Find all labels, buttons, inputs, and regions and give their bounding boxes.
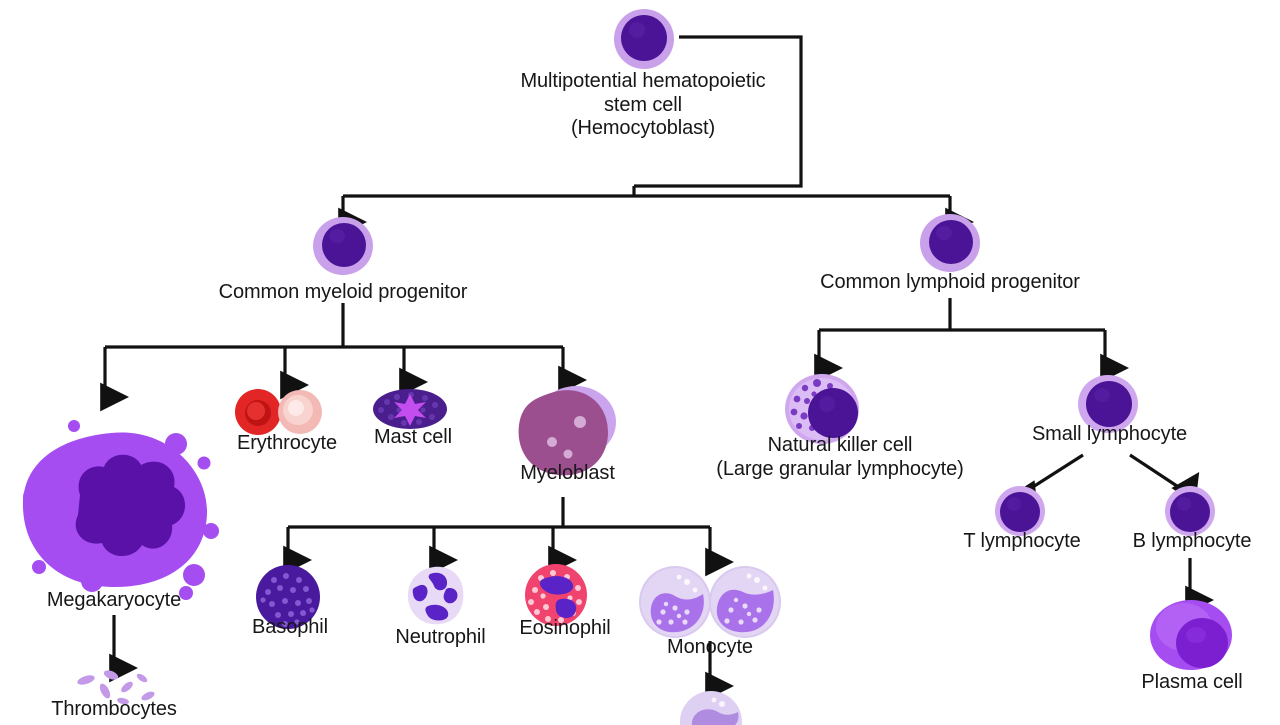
monocyte-icon (635, 564, 785, 640)
neutrophil-icon (404, 564, 468, 628)
progenitor-cell-icon (918, 212, 984, 274)
label-plasma-cell: Plasma cell (1112, 671, 1272, 695)
erythrocyte-icon (234, 388, 326, 436)
label-myeloblast: Myeloblast (495, 462, 640, 486)
label-neutrophil: Neutrophil (378, 626, 503, 650)
stem-cell-icon (611, 8, 677, 70)
label-b-lymphocyte: B lymphocyte (1122, 530, 1262, 554)
plasma-cell-icon (1148, 597, 1234, 673)
node-monocyte (635, 564, 785, 645)
node-macrophage (678, 688, 744, 725)
label-megakaryocyte: Megakaryocyte (14, 589, 214, 613)
label-small-lymphocyte: Small lymphocyte (1022, 423, 1197, 447)
hematopoiesis-diagram: Multipotential hematopoietic stem cell (… (0, 0, 1280, 725)
label-mast-cell: Mast cell (343, 426, 483, 450)
label-t-lymphocyte: T lymphocyte (952, 530, 1092, 554)
label-natural-killer-cell: Natural killer cell (Large granular lymp… (665, 434, 1015, 481)
progenitor-cell-icon (311, 215, 377, 277)
label-common-lymphoid-progenitor: Common lymphoid progenitor (800, 271, 1100, 295)
label-common-myeloid-progenitor: Common myeloid progenitor (193, 281, 493, 305)
label-hematopoietic-stem-cell: Multipotential hematopoietic stem cell (… (458, 70, 828, 141)
node-hematopoietic-stem-cell (611, 8, 677, 75)
macrophage-icon (678, 688, 744, 725)
node-common-lymphoid-progenitor (918, 212, 984, 279)
node-megakaryocyte (8, 385, 228, 605)
label-erythrocyte: Erythrocyte (212, 432, 362, 456)
megakaryocyte-icon (8, 385, 228, 600)
node-plasma-cell (1148, 597, 1234, 678)
node-common-myeloid-progenitor (311, 215, 377, 282)
node-neutrophil (404, 564, 468, 633)
label-thrombocytes: Thrombocytes (14, 698, 214, 722)
label-eosinophil: Eosinophil (500, 617, 630, 641)
label-monocyte: Monocyte (645, 636, 775, 660)
label-basophil: Basophil (230, 616, 350, 640)
